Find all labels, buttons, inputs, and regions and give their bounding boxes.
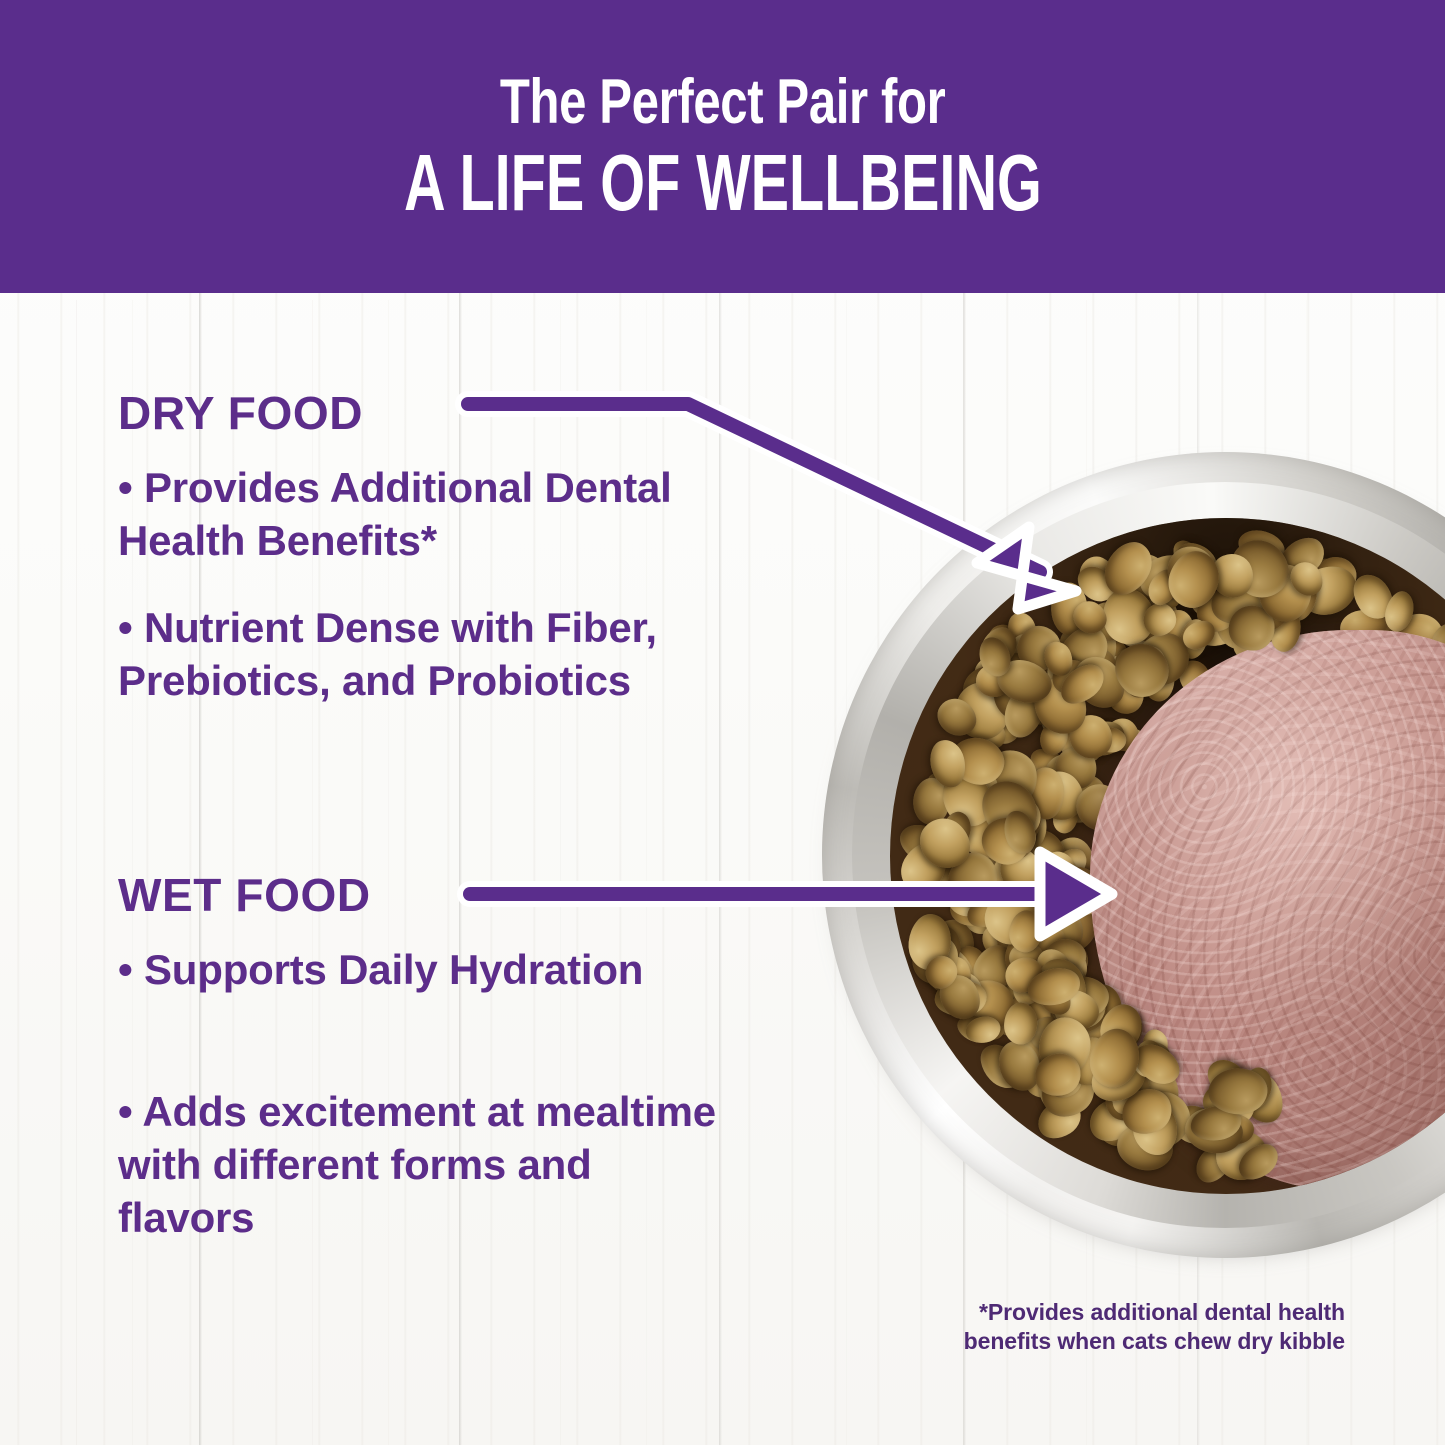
footnote: *Provides additional dental health benef… xyxy=(964,1298,1345,1357)
wet-food-bullet-1: • Supports Daily Hydration xyxy=(118,944,738,997)
pet-food-bowl-photo xyxy=(822,452,1445,1262)
section-title-wet-food: WET FOOD xyxy=(118,872,371,918)
wet-food-bullet-2: • Adds excitement at mealtime with diffe… xyxy=(118,1086,738,1245)
dry-food-bullet-1: • Provides Additional Dental Health Bene… xyxy=(118,462,798,568)
footnote-line-2: benefits when cats chew dry kibble xyxy=(964,1327,1345,1356)
footnote-line-1: *Provides additional dental health xyxy=(964,1298,1345,1327)
infographic-canvas: The Perfect Pair for A LIFE OF WELLBEING… xyxy=(0,0,1445,1445)
header-banner: The Perfect Pair for A LIFE OF WELLBEING xyxy=(0,0,1445,293)
dry-kibble-front-row xyxy=(890,518,1445,1194)
dry-food-bullet-2: • Nutrient Dense with Fiber, Prebiotics,… xyxy=(118,602,798,708)
bowl-interior xyxy=(890,518,1445,1194)
section-title-dry-food: DRY FOOD xyxy=(118,390,363,436)
header-title-line-2: A LIFE OF WELLBEING xyxy=(404,143,1042,223)
header-title-line-1: The Perfect Pair for xyxy=(500,70,946,134)
